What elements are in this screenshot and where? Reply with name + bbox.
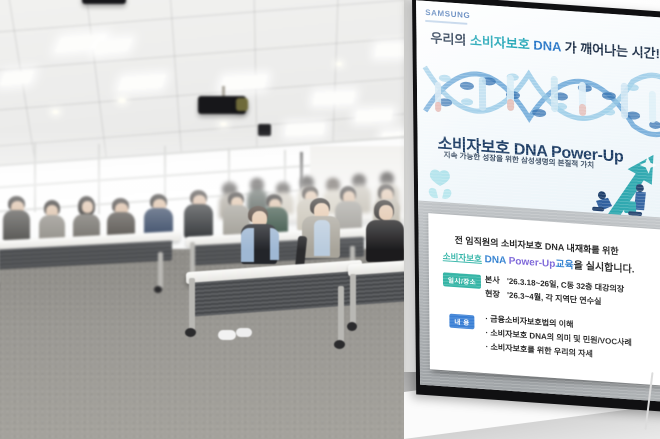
headline-highlight-1: 소비자보호 [470, 33, 530, 52]
training-table [0, 236, 180, 280]
logo-underline [425, 20, 467, 25]
badge-datetime-location: 일시/장소 [443, 272, 481, 289]
shoe [218, 330, 236, 340]
headline-highlight-2: DNA [530, 37, 565, 54]
samsung-logo: SAMSUNG [425, 8, 470, 20]
leaf-heart-motif [426, 167, 472, 204]
card-line2-black: 을 실시합니다. [574, 260, 635, 275]
screenshot-root: SAMSUNG 우리의 소비자보호 DNA 가 깨어나는 시간! [0, 0, 660, 439]
training-table-front [186, 266, 362, 346]
announcement-card: 전 임직원의 소비자보호 DNA 내재화를 위한 소비자보호 DNA Power… [428, 213, 660, 385]
training-table-front [348, 262, 412, 336]
slide-hero: SAMSUNG 우리의 소비자보호 DNA 가 깨어나는 시간! [416, 0, 660, 232]
table-row-2 [0, 0, 412, 439]
row-label-headquarters: 본사 [485, 274, 500, 286]
dna-double-helix-graphic [421, 53, 660, 143]
card-line2-purple: Power-Up [509, 256, 556, 270]
slide-card-area: 전 임직원의 소비자보호 DNA 내재화를 위한 소비자보호 DNA Power… [418, 200, 660, 402]
row-label-field: 현장 [485, 288, 500, 300]
headline-suffix: 가 깨어나는 시간! [565, 40, 660, 62]
wall-mounted-display[interactable]: SAMSUNG 우리의 소비자보호 DNA 가 깨어나는 시간! [412, 0, 660, 412]
upward-arrow-graphic [587, 140, 660, 224]
shoe [236, 328, 252, 337]
display-screen[interactable]: SAMSUNG 우리의 소비자보호 DNA 가 깨어나는 시간! [416, 0, 660, 402]
card-line2-blue2: 교육 [555, 259, 574, 271]
card-line2-underline: 소비자보호 [443, 251, 482, 264]
card-line2-blue: DNA [485, 254, 506, 266]
headline-prefix: 우리의 [430, 30, 470, 48]
classroom-photo [0, 0, 412, 439]
badge-content: 내 용 [449, 314, 474, 330]
